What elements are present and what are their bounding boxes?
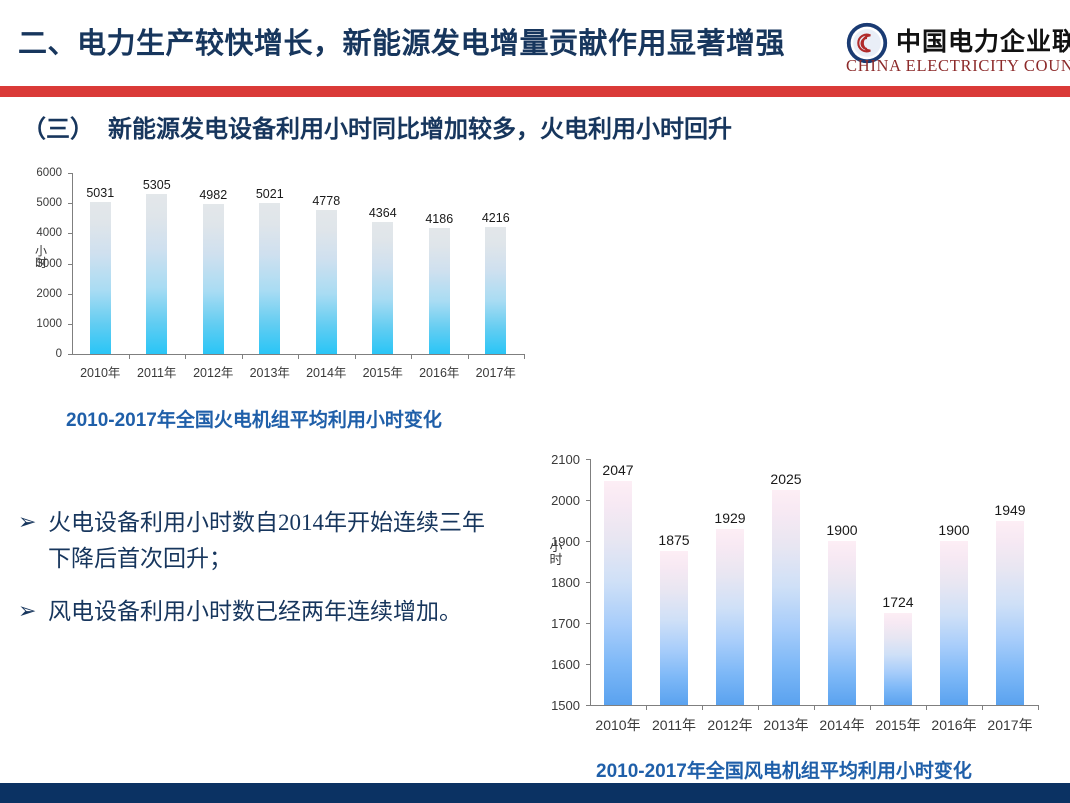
- chart-thermal-utilization-hours: 0100020003000400050006000小时50312010年5305…: [34, 163, 534, 368]
- chart-wind-utilization-hours: 1500160017001800190020002100小时20472010年1…: [546, 447, 1046, 719]
- list-item: ➢ 火电设备利用小时数自2014年开始连续三年下降后首次回升；: [18, 505, 488, 576]
- logo-chinese-name: 中国电力企业联合会: [896, 22, 1070, 58]
- x-axis-category-label: 2017年: [462, 362, 530, 381]
- y-axis-tick: [586, 500, 591, 501]
- x-axis-tick: [185, 354, 186, 359]
- y-axis-tick-label: 4000: [32, 227, 62, 239]
- bar-value-label: 1900: [808, 522, 876, 538]
- bar-2012年: [203, 204, 224, 354]
- bar-2010年: [604, 481, 632, 705]
- section-subtitle-text: 新能源发电设备利用小时同比增加较多，火电利用小时回升: [108, 116, 732, 143]
- x-axis-tick: [1038, 705, 1039, 710]
- bar-2011年: [660, 551, 688, 705]
- bullet-text: 火电设备利用小时数自2014年开始连续三年下降后首次回升；: [48, 505, 488, 576]
- x-axis-tick: [242, 354, 243, 359]
- bar-2016年: [940, 541, 968, 705]
- bullet-arrow-icon: ➢: [18, 505, 48, 539]
- y-axis-tick: [68, 264, 73, 265]
- bar-2010年: [90, 202, 111, 354]
- x-axis-tick: [298, 354, 299, 359]
- bar-value-label: 2047: [584, 462, 652, 478]
- x-axis-tick: [129, 354, 130, 359]
- x-axis-tick: [870, 705, 871, 710]
- bar-2015年: [372, 222, 393, 354]
- y-axis-tick-label: 6000: [32, 167, 62, 179]
- bar-value-label: 1949: [976, 502, 1044, 518]
- bar-value-label: 1875: [640, 532, 708, 548]
- bar-value-label: 1929: [696, 510, 764, 526]
- chart-thermal-caption: 2010-2017年全国火电机组平均利用小时变化: [66, 405, 442, 432]
- list-item: ➢ 风电设备利用小时数已经两年连续增加。: [18, 594, 488, 630]
- y-axis-tick-label: 2000: [32, 288, 62, 300]
- y-axis-tick: [68, 294, 73, 295]
- y-axis-tick-label: 2100: [544, 452, 580, 467]
- chart-wind-caption: 2010-2017年全国风电机组平均利用小时变化: [596, 756, 972, 783]
- y-axis-tick: [68, 173, 73, 174]
- x-axis-tick: [926, 705, 927, 710]
- bullet-text: 风电设备利用小时数已经两年连续增加。: [48, 594, 488, 630]
- y-axis-tick-label: 1500: [544, 698, 580, 713]
- bar-2011年: [146, 194, 167, 354]
- chart-thermal-plot-area: 0100020003000400050006000小时50312010年5305…: [34, 163, 534, 368]
- x-axis-tick: [411, 354, 412, 359]
- x-axis-tick: [982, 705, 983, 710]
- y-axis-tick: [586, 541, 591, 542]
- bar-2017年: [996, 521, 1024, 705]
- x-axis-tick: [814, 705, 815, 710]
- chart-wind-plot-area: 1500160017001800190020002100小时20472010年1…: [546, 447, 1046, 719]
- y-axis-tick: [586, 623, 591, 624]
- x-axis-tick: [355, 354, 356, 359]
- y-axis-tick: [68, 203, 73, 204]
- bar-2013年: [259, 203, 280, 354]
- bar-value-label: 4216: [462, 211, 530, 225]
- organization-logo: 中国电力企业联合会 CHINA ELECTRICITY COUNCIL: [846, 18, 1062, 80]
- slide-canvas: 二、电力生产较快增长，新能源发电增量贡献作用显著增强 中国电力企业联合会 CHI…: [0, 0, 1070, 803]
- x-axis-tick: [702, 705, 703, 710]
- bar-value-label: 2025: [752, 471, 820, 487]
- y-axis-tick: [68, 324, 73, 325]
- bar-2014年: [828, 541, 856, 705]
- y-axis-tick: [68, 354, 73, 355]
- y-axis-tick-label: 1000: [32, 318, 62, 330]
- y-axis-tick: [586, 459, 591, 460]
- x-axis-tick: [524, 354, 525, 359]
- bar-2012年: [716, 529, 744, 705]
- y-axis-tick: [586, 705, 591, 706]
- y-axis-tick-label: 5000: [32, 197, 62, 209]
- bar-2015年: [884, 613, 912, 705]
- y-axis-tick-label: 1800: [544, 575, 580, 590]
- bar-value-label: 1900: [920, 522, 988, 538]
- page-title: 二、电力生产较快增长，新能源发电增量贡献作用显著增强: [18, 20, 828, 62]
- bullet-arrow-icon: ➢: [18, 594, 48, 628]
- bar-2016年: [429, 228, 450, 354]
- y-axis-tick-label: 1600: [544, 657, 580, 672]
- x-axis-tick: [646, 705, 647, 710]
- y-axis-title: 小时: [548, 540, 564, 566]
- x-axis-tick: [468, 354, 469, 359]
- bullet-list: ➢ 火电设备利用小时数自2014年开始连续三年下降后首次回升； ➢ 风电设备利用…: [18, 505, 488, 648]
- bar-2014年: [316, 210, 337, 354]
- y-axis-tick-label: 0: [32, 348, 62, 360]
- y-axis-tick-label: 1700: [544, 616, 580, 631]
- bar-2013年: [772, 490, 800, 705]
- section-number: （三）: [22, 116, 94, 143]
- logo-english-name: CHINA ELECTRICITY COUNCIL: [846, 56, 1070, 76]
- y-axis-tick: [586, 582, 591, 583]
- y-axis-title: 小时: [34, 245, 48, 269]
- section-heading: （三）新能源发电设备利用小时同比增加较多，火电利用小时回升: [22, 109, 732, 144]
- y-axis-tick: [68, 233, 73, 234]
- x-axis-tick: [758, 705, 759, 710]
- x-axis-category-label: 2017年: [976, 715, 1044, 735]
- footer-divider-rule: [0, 783, 1070, 803]
- bar-2017年: [485, 227, 506, 354]
- bar-value-label: 1724: [864, 594, 932, 610]
- y-axis-tick: [586, 664, 591, 665]
- y-axis-tick-label: 2000: [544, 493, 580, 508]
- header-divider-rule: [0, 86, 1070, 97]
